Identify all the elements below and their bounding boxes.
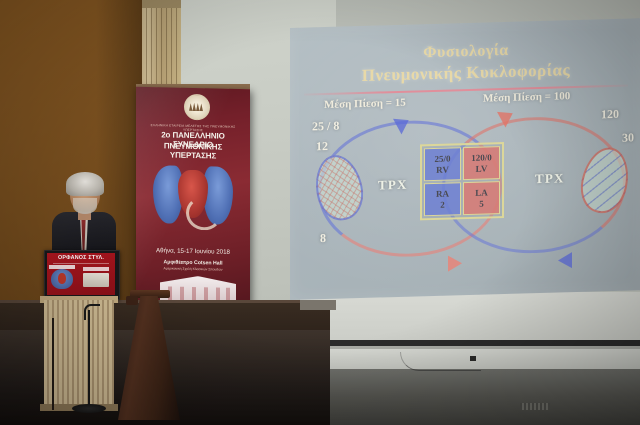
mean-pressure-systemic: Μέση Πίεση = 100 xyxy=(483,90,570,104)
floor-transition-strip xyxy=(300,300,336,310)
floor-right xyxy=(300,369,640,425)
value-left-systolic-diastolic: 25 / 8 xyxy=(312,119,339,135)
value-left-upper: 12 xyxy=(316,139,328,154)
chamber-rv-pressure: 25/0 xyxy=(434,154,450,165)
lectern-knob xyxy=(126,296,138,305)
tpx-label-left: ΤΡΧ xyxy=(378,177,408,194)
banner-aorta-icon xyxy=(186,196,222,231)
value-left-lower: 8 xyxy=(320,231,326,246)
chamber-ra: RA 2 xyxy=(424,182,461,216)
chamber-la-pressure: 5 xyxy=(479,198,484,208)
wall-lower-right xyxy=(300,292,640,344)
mean-pressure-pulmonary: Μέση Πίεση = 15 xyxy=(324,97,406,111)
chamber-lv: 120/0 LV xyxy=(463,146,500,180)
speaker-hair xyxy=(66,172,104,196)
podium-name-display: ΟΡΦΑΝΟΣ ΣΤΥΛ. xyxy=(44,250,120,300)
floor-cable-connector xyxy=(470,356,476,361)
chamber-rv-label: RV xyxy=(436,164,449,175)
conference-photo-scene: Φυσιολογία Πνευμονικής Κυκλοφορίας Μέση … xyxy=(0,0,640,425)
value-right-systolic: 120 xyxy=(601,107,619,123)
mic-stand-secondary xyxy=(52,318,54,410)
mic-stand-pole xyxy=(88,310,90,410)
chamber-la: LA 5 xyxy=(463,181,500,215)
value-right-lower: 30 xyxy=(622,130,634,145)
banner-title-line2: ΠΝΕΥΜΟΝΙΚΗΣ ΥΠΕΡΤΑΣΗΣ xyxy=(142,141,244,161)
arrow-systemic-bottom-icon xyxy=(558,252,572,268)
chamber-lv-label: LV xyxy=(476,163,488,174)
fluted-pedestal xyxy=(44,300,114,408)
chamber-lv-pressure: 120/0 xyxy=(471,153,492,164)
podium-sponsor-label-2 xyxy=(83,267,109,271)
chamber-rv: 25/0 RV xyxy=(424,147,461,181)
chamber-ra-pressure: 2 xyxy=(440,199,445,209)
tpx-label-right: ΤΡΧ xyxy=(535,170,565,187)
arrow-pulmonary-bottom-icon xyxy=(448,255,462,271)
floor-vent xyxy=(520,403,550,410)
floor-cable xyxy=(400,352,481,371)
banner-lungs-heart-illustration xyxy=(150,159,236,243)
mic-stand-base xyxy=(72,404,106,413)
speaker-beard xyxy=(73,198,97,214)
chamber-la-label: LA xyxy=(475,188,488,199)
chamber-ra-label: RA xyxy=(436,189,449,200)
speaker-name-label: ΟΡΦΑΝΟΣ ΣΤΥΛ. xyxy=(47,255,115,261)
projected-slide: Φυσιολογία Πνευμονικής Κυκλοφορίας Μέση … xyxy=(290,18,640,300)
podium-heart-icon xyxy=(58,273,66,284)
conference-banner: ΕΛΛΗΝΙΚΗ ΕΤΑΙΡΕΙΑ ΜΕΛΕΤΗΣ ΤΗΣ ΠΝΕΥΜΟΝΙΚΗ… xyxy=(136,87,250,317)
mic-stand-arm xyxy=(84,304,100,320)
heart-chambers-diagram: 25/0 RV 120/0 LV RA 2 LA 5 xyxy=(420,142,504,220)
podium-display-divider xyxy=(53,263,109,264)
podium-sponsor-image xyxy=(83,273,109,287)
